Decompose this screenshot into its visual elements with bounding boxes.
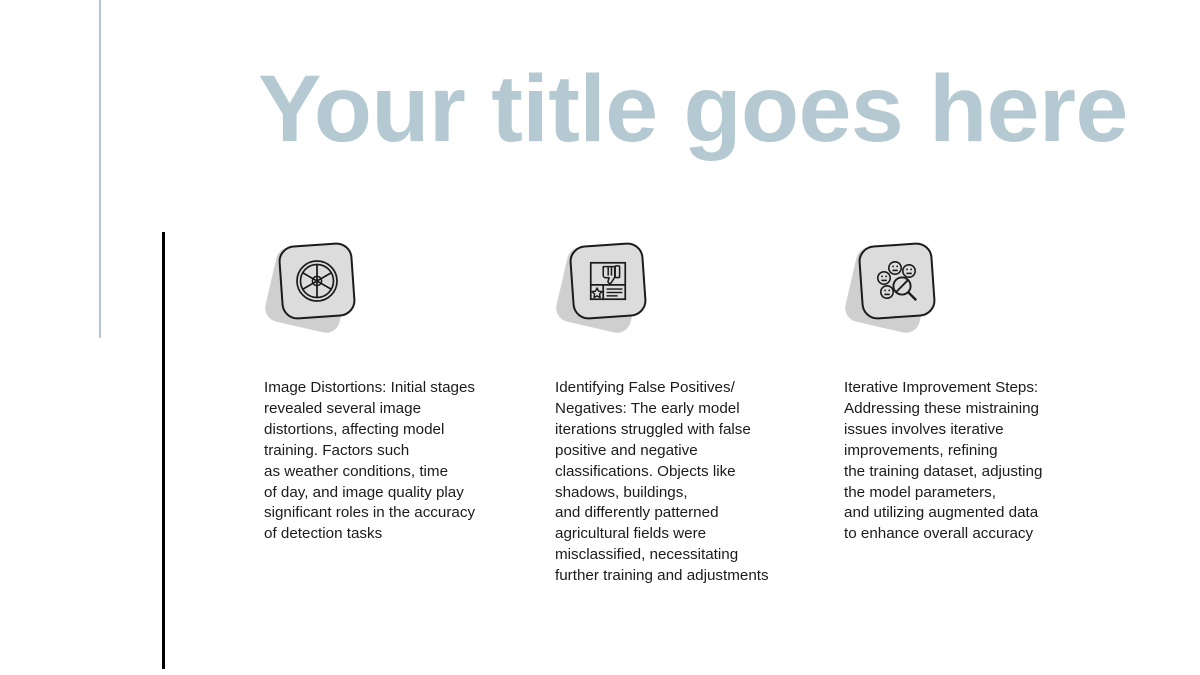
content-column: Identifying False Positives/ Negatives: … bbox=[555, 240, 817, 587]
content-column: Iterative Improvement Steps: Addressing … bbox=[844, 240, 1106, 545]
icon-badge bbox=[268, 240, 364, 336]
icon-card bbox=[569, 242, 648, 321]
camera-aperture-icon bbox=[293, 257, 341, 305]
column-body-text: Image Distortions: Initial stages reveal… bbox=[264, 378, 526, 545]
content-column: Image Distortions: Initial stages reveal… bbox=[264, 240, 526, 545]
icon-card bbox=[278, 242, 357, 321]
icon-badge bbox=[848, 240, 944, 336]
thumbs-down-review-card-icon bbox=[585, 258, 631, 304]
icon-badge bbox=[559, 240, 655, 336]
faces-magnifier-analysis-icon bbox=[873, 257, 921, 305]
column-body-text: Identifying False Positives/ Negatives: … bbox=[555, 378, 817, 587]
icon-card bbox=[858, 242, 937, 321]
column-body-text: Iterative Improvement Steps: Addressing … bbox=[844, 378, 1106, 545]
content-columns: Image Distortions: Initial stages reveal… bbox=[0, 0, 1200, 675]
